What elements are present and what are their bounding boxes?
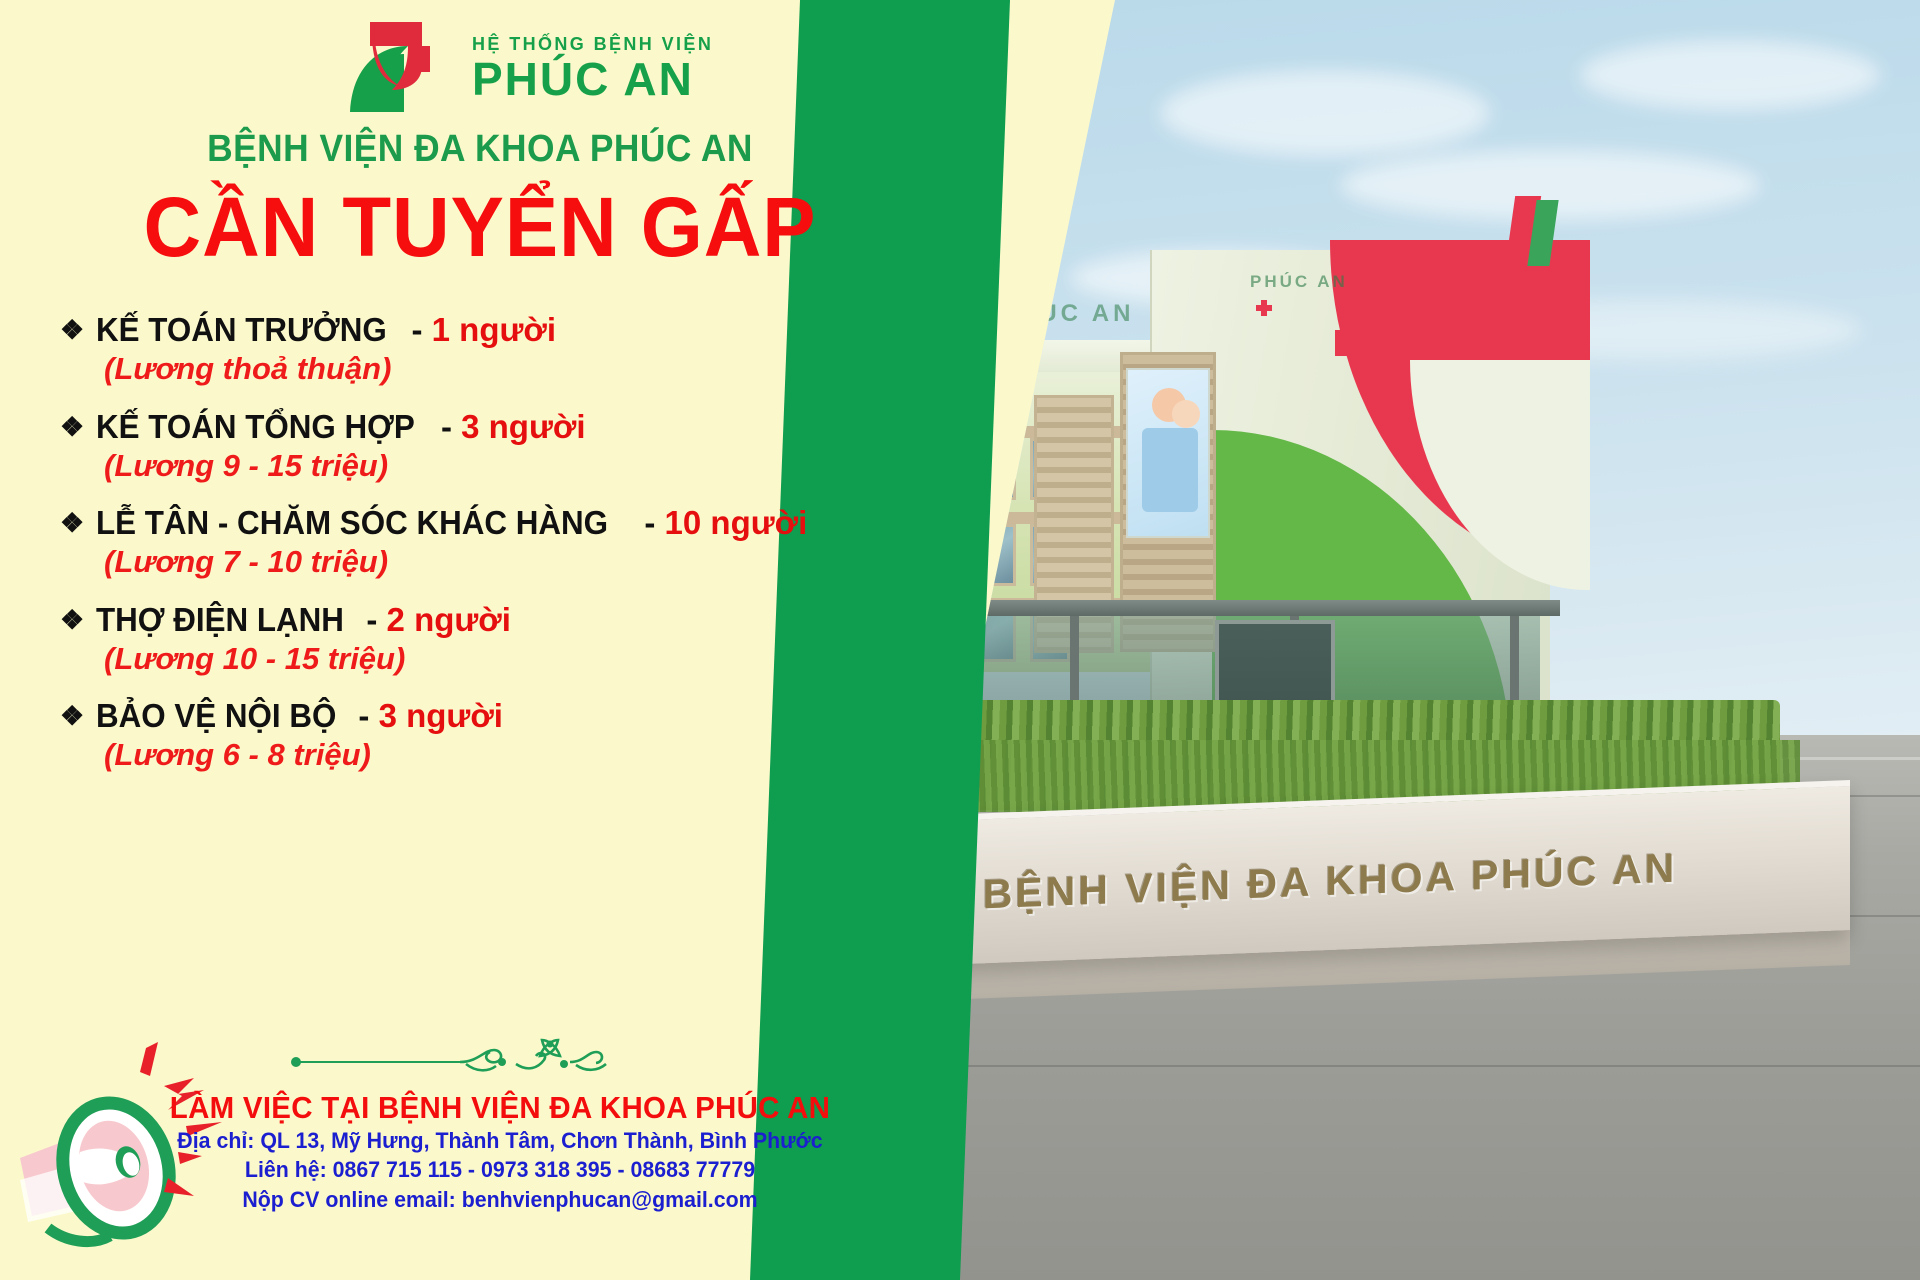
facade-cross-icon (1256, 300, 1272, 316)
job-title-text: KẾ TOÁN TRƯỞNG (96, 312, 387, 349)
job-salary: (Lương thoả thuận) (104, 351, 960, 387)
facade-poster-panel (1126, 368, 1210, 538)
footer-heading: LÀM VIỆC TẠI BỆNH VIỆN ĐA KHOA PHÚC AN (168, 1090, 833, 1126)
job-title-text: KẾ TOÁN TỔNG HỢP (96, 409, 415, 446)
cloud (1580, 40, 1880, 110)
job-item: ❖ KẾ TOÁN TRƯỞNG - 1 người (Lương thoả t… (60, 312, 960, 387)
brand-system-label: HỆ THỐNG BỆNH VIỆN (472, 35, 713, 53)
bullet-diamond-icon: ❖ (60, 510, 84, 537)
job-count: 3 người (379, 697, 503, 734)
ornament-divider-icon (270, 1034, 630, 1076)
job-separator: - (366, 601, 377, 638)
wall-brand-label: PHÚC AN (998, 300, 1134, 328)
job-separator: - (411, 311, 422, 348)
job-list: ❖ KẾ TOÁN TRƯỞNG - 1 người (Lương thoả t… (60, 312, 960, 795)
job-salary: (Lương 6 - 8 triệu) (104, 737, 960, 773)
content-panel: HỆ THỐNG BỆNH VIỆN PHÚC AN BỆNH VIỆN ĐA … (0, 0, 980, 1280)
facade-brand-label: PHÚC AN (1250, 272, 1348, 292)
brand-name: PHÚC AN (472, 56, 713, 102)
job-title-text: THỢ ĐIỆN LẠNH (96, 602, 344, 639)
job-item: ❖ LỄ TÂN - CHĂM SÓC KHÁC HÀNG - 10 người… (60, 505, 960, 580)
footer-address: Địa chỉ: QL 13, Mỹ Hưng, Thành Tâm, Chơn… (161, 1126, 840, 1155)
job-item: ❖ KẾ TOÁN TỔNG HỢP - 3 người (Lương 9 - … (60, 409, 960, 484)
bullet-diamond-icon: ❖ (60, 414, 84, 441)
bullet-diamond-icon: ❖ (60, 607, 84, 634)
job-count: 1 người (432, 311, 556, 348)
bullet-diamond-icon: ❖ (60, 703, 84, 730)
job-item: ❖ BẢO VỆ NỘI BỘ - 3 người (Lương 6 - 8 t… (60, 698, 960, 773)
brand-logo: HỆ THỐNG BỆNH VIỆN PHÚC AN (330, 18, 890, 118)
job-count: 2 người (387, 601, 511, 638)
recruitment-poster: PHÚC AN PHÚC AN BỆNH VIỆN ĐA KHOA PHÚC A… (0, 0, 1920, 1280)
footer-contact: LÀM VIỆC TẠI BỆNH VIỆN ĐA KHOA PHÚC AN Đ… (150, 1090, 850, 1214)
hospital-photo: PHÚC AN PHÚC AN BỆNH VIỆN ĐA KHOA PHÚC A… (820, 0, 1920, 1280)
job-count: 3 người (461, 408, 585, 445)
job-salary: (Lương 9 - 15 triệu) (104, 448, 960, 484)
job-separator: - (358, 697, 369, 734)
job-item: ❖ THỢ ĐIỆN LẠNH - 2 người (Lương 10 - 15… (60, 602, 960, 677)
headline: CẦN TUYỂN GẤP (24, 185, 936, 269)
job-salary: (Lương 7 - 10 triệu) (104, 544, 960, 580)
medical-cross-icon (1335, 330, 1421, 356)
job-count: 10 người (665, 504, 808, 541)
footer-email[interactable]: Nộp CV online email: benhvienphucan@gmai… (161, 1185, 840, 1214)
job-salary: (Lương 10 - 15 triệu) (104, 641, 960, 677)
footer-phone[interactable]: Liên hệ: 0867 715 115 - 0973 318 395 - 0… (161, 1155, 840, 1184)
phuc-an-logo-icon (330, 20, 458, 116)
organization-title: BỆNH VIỆN ĐA KHOA PHÚC AN (34, 128, 927, 171)
job-title-text: BẢO VỆ NỘI BỘ (96, 698, 336, 735)
bullet-diamond-icon: ❖ (60, 317, 84, 344)
job-separator: - (644, 504, 655, 541)
job-separator: - (441, 408, 452, 445)
cloud (1160, 70, 1490, 156)
job-title-text: LỄ TÂN - CHĂM SÓC KHÁC HÀNG (96, 505, 608, 542)
